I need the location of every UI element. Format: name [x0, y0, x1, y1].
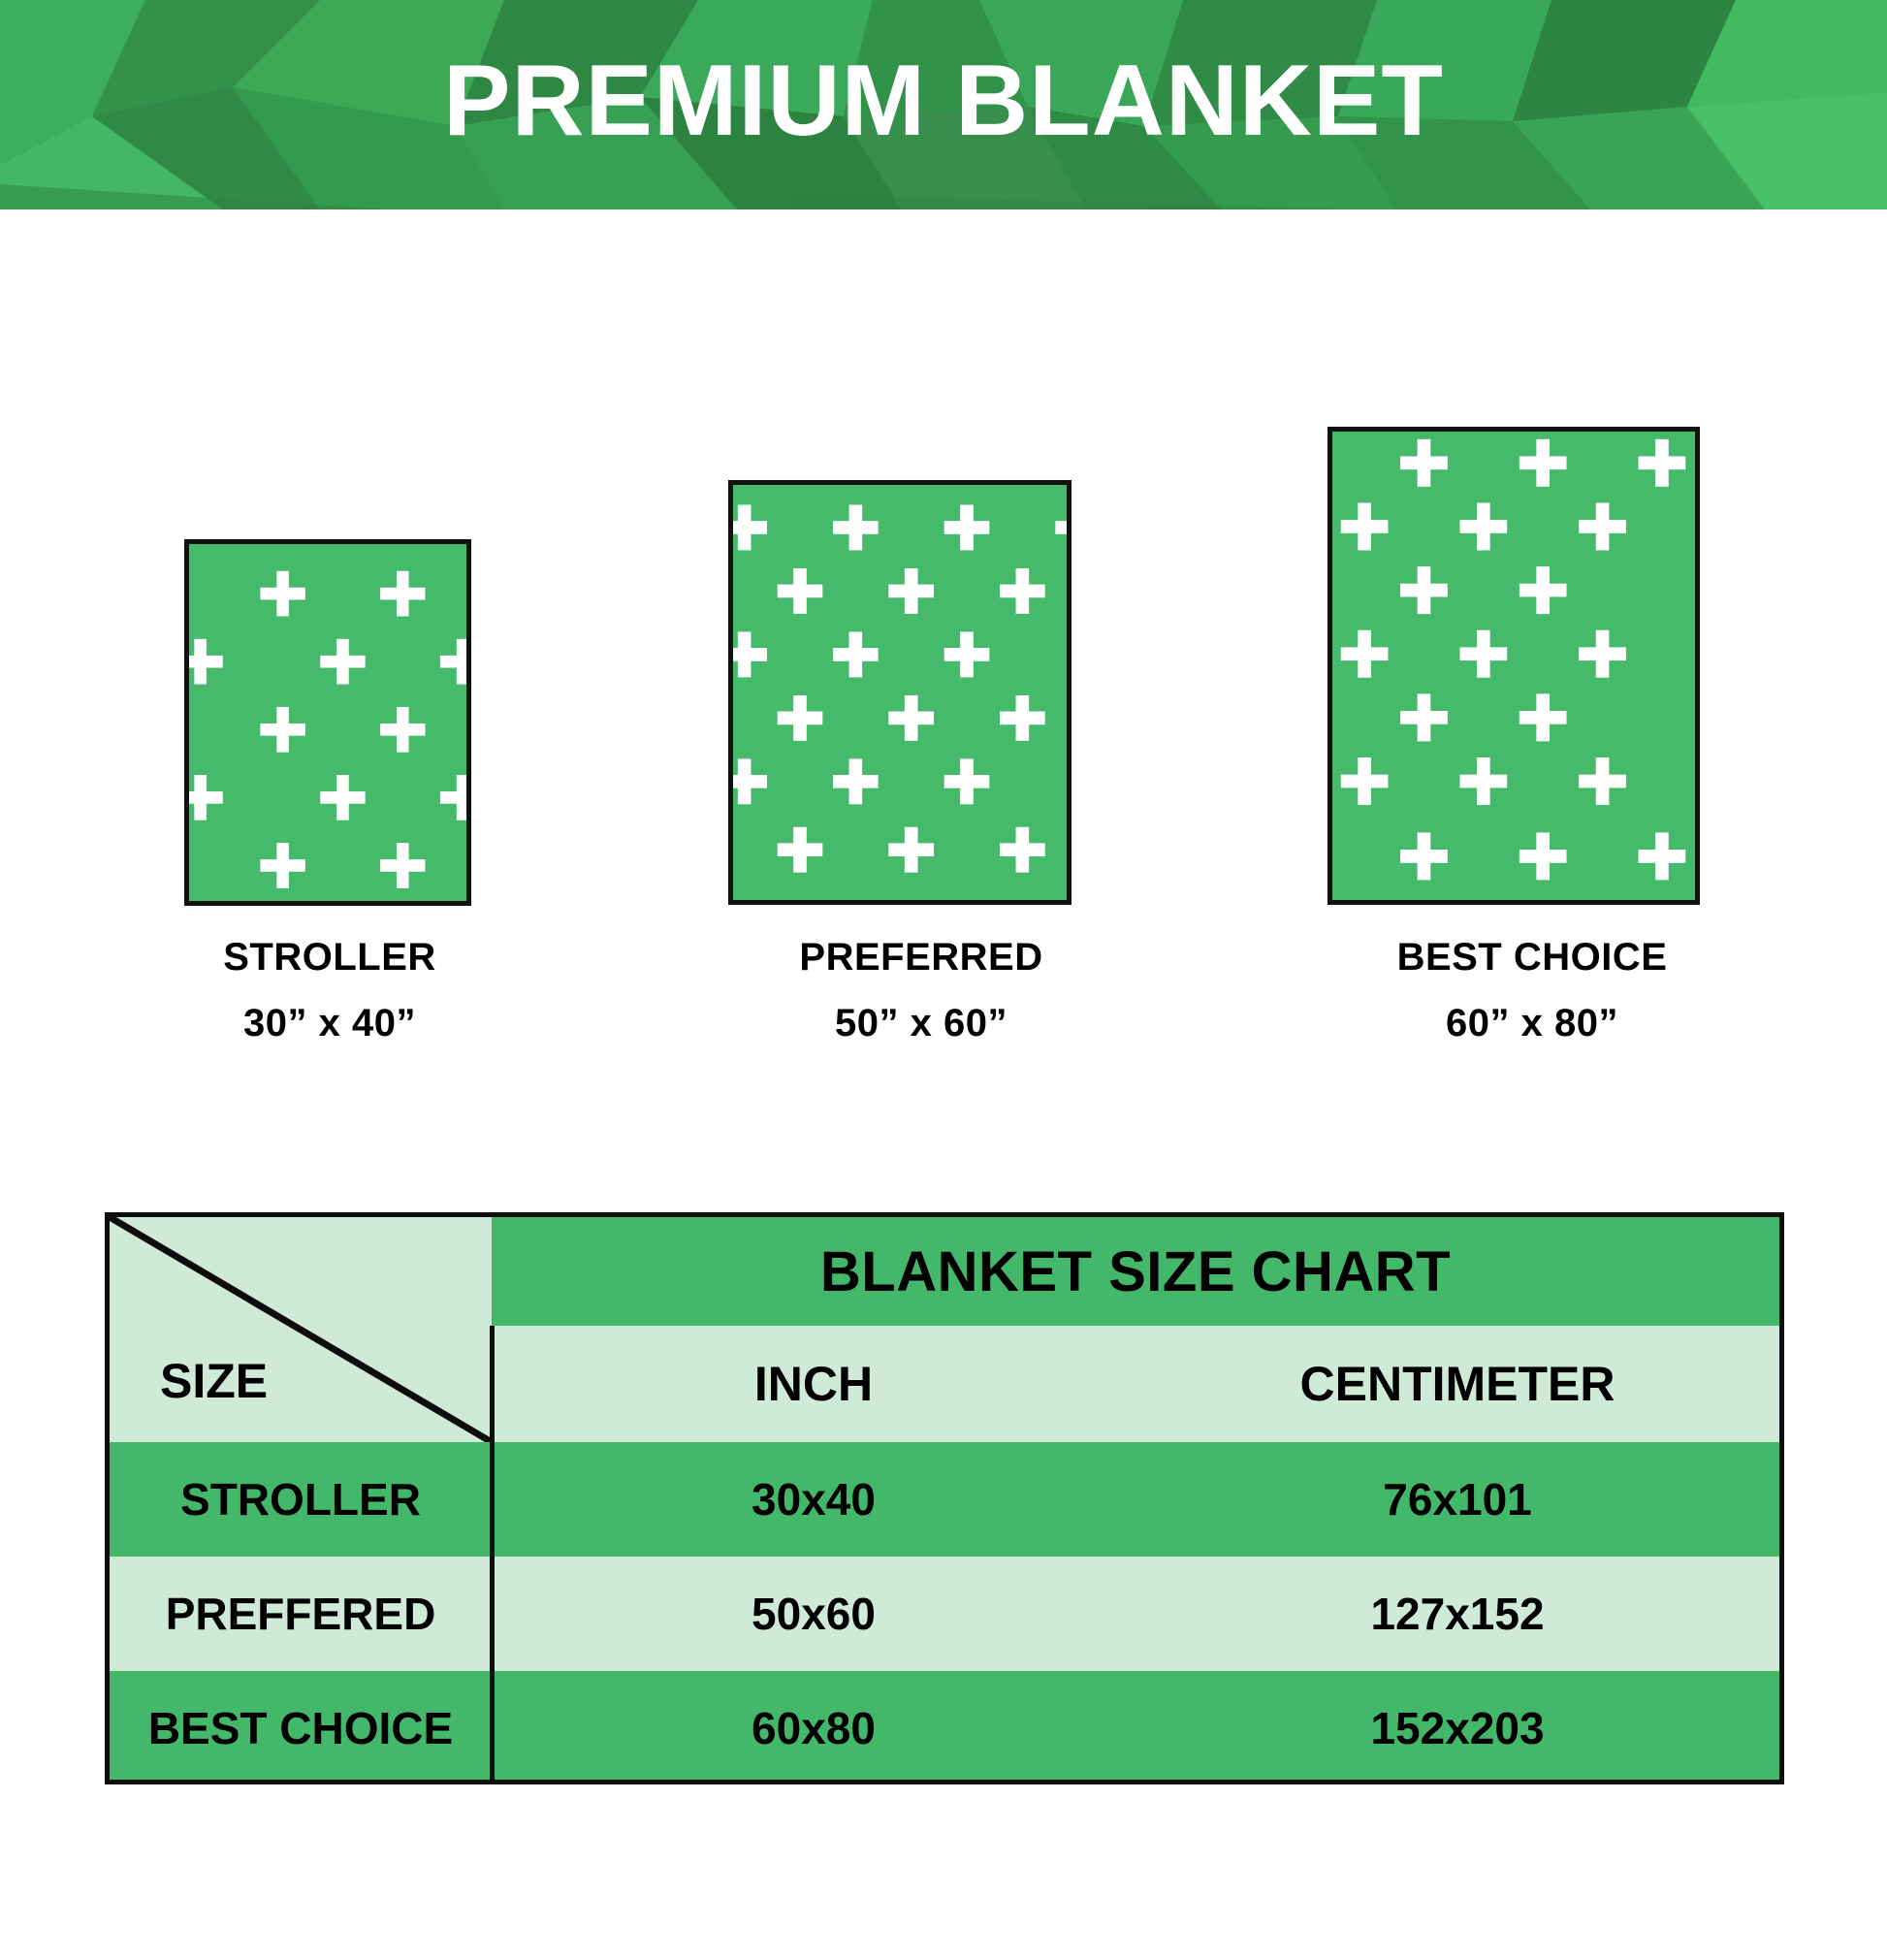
table-title-band: BLANKET SIZE CHART [492, 1217, 1779, 1326]
cross-pattern-small [189, 544, 466, 901]
table-row: BEST CHOICE [110, 1671, 492, 1784]
blanket-swatch-best-choice [1327, 427, 1700, 905]
table-cell-size-0: STROLLER [180, 1473, 421, 1526]
table-cell-inch-2: 60x80 [752, 1702, 876, 1754]
swatch-dims-stroller: 30” x 40” [39, 1003, 621, 1044]
table-cell-cm-2: 152x203 [1370, 1702, 1544, 1754]
table-header-centimeter-label: CENTIMETER [1300, 1356, 1615, 1412]
swatch-name-stroller: STROLLER [39, 937, 621, 978]
table-cell-size-1: PREFFERED [166, 1588, 436, 1640]
swatch-caption-best-choice: BEST CHOICE 60” x 80” [1222, 937, 1842, 1044]
table-cell-inch-1: 50x60 [752, 1588, 876, 1640]
page-title: PREMIUM BLANKET [0, 0, 1887, 209]
table-cell-inch-1-wrap: 50x60 [492, 1557, 1135, 1671]
swatch-dims-best-choice: 60” x 80” [1222, 1003, 1842, 1044]
blanket-size-chart-page: PREMIUM BLANKET [0, 0, 1887, 1960]
table-header-inch: INCH [492, 1326, 1135, 1442]
table-cell-cm-0-wrap: 76x101 [1135, 1442, 1779, 1557]
blanket-swatch-stroller [184, 539, 471, 906]
table-cell-inch-0-wrap: 30x40 [492, 1442, 1135, 1557]
table-row: PREFFERED [110, 1557, 492, 1671]
table-header-inch-label: INCH [754, 1356, 873, 1412]
table-grid: SIZE BLANKET SIZE CHART INCH CENTIMETER … [110, 1217, 1779, 1780]
table-cell-cm-1-wrap: 127x152 [1135, 1557, 1779, 1671]
swatch-caption-stroller: STROLLER 30” x 40” [39, 937, 621, 1044]
blanket-swatch-preferred [728, 480, 1071, 905]
table-header-centimeter: CENTIMETER [1135, 1326, 1779, 1442]
table-cell-cm-2-wrap: 152x203 [1135, 1671, 1779, 1784]
table-cell-inch-2-wrap: 60x80 [492, 1671, 1135, 1784]
swatch-name-best-choice: BEST CHOICE [1222, 937, 1842, 978]
table-corner-label: SIZE [160, 1353, 268, 1409]
table-corner-size-cell: SIZE [110, 1217, 492, 1442]
table-column-divider [490, 1326, 495, 1784]
swatch-row: STROLLER 30” x 40” [0, 209, 1887, 1141]
table-row: STROLLER [110, 1442, 492, 1557]
table-cell-cm-1: 127x152 [1370, 1588, 1544, 1640]
table-cell-size-2: BEST CHOICE [148, 1702, 453, 1754]
swatch-name-preferred: PREFERRED [621, 937, 1222, 978]
header-banner: PREMIUM BLANKET [0, 0, 1887, 209]
cross-pattern-medium [733, 485, 1067, 900]
blanket-size-chart-table: SIZE BLANKET SIZE CHART INCH CENTIMETER … [105, 1212, 1784, 1784]
cross-pattern-large [1332, 432, 1695, 900]
swatch-dims-preferred: 50” x 60” [621, 1003, 1222, 1044]
table-cell-inch-0: 30x40 [752, 1473, 876, 1526]
swatch-caption-preferred: PREFERRED 50” x 60” [621, 937, 1222, 1044]
table-title: BLANKET SIZE CHART [820, 1239, 1451, 1304]
table-cell-cm-0: 76x101 [1383, 1473, 1532, 1526]
